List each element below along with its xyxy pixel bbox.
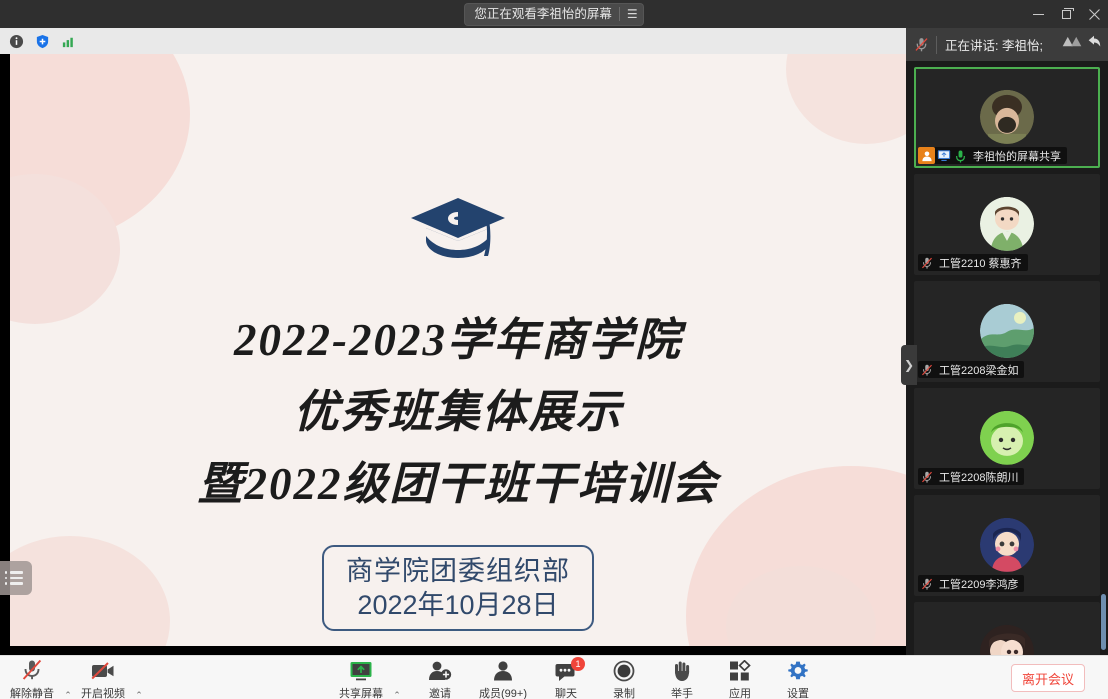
slide-organizer-box: 商学院团委组织部 2022年10月28日 [322, 545, 594, 631]
record-icon [613, 660, 635, 682]
invite-label: 邀请 [429, 685, 451, 699]
slide-title-line-1: 2022-2023学年商学院 [10, 304, 906, 376]
slide-organizer: 商学院团委组织部 [346, 554, 570, 588]
center-controls: 共享屏幕 ⌃ 邀请 [333, 656, 826, 699]
participant-name: 工管2208陈朗川 [935, 469, 1018, 485]
window-controls [1024, 0, 1108, 28]
avatar [980, 624, 1034, 655]
avatar [980, 196, 1034, 250]
slide-title: 2022-2023学年商学院 优秀班集体展示 暨2022级团干班干培训会 [10, 304, 906, 520]
avatar [980, 303, 1034, 357]
graduation-cap-logo [408, 194, 508, 271]
participant-thumbnail[interactable]: 李祖怡的屏幕共享 [914, 67, 1100, 168]
participant-name-bar: 工管2209李鸿彦 [918, 575, 1024, 592]
mic-active-icon [952, 147, 969, 164]
invite-button[interactable]: 邀请 [412, 656, 468, 699]
info-icon[interactable] [8, 33, 24, 49]
raise-hand-icon [672, 660, 692, 682]
apps-icon [729, 660, 751, 682]
shield-icon[interactable] [34, 33, 50, 49]
audio-options-caret[interactable]: ⌃ [61, 690, 75, 699]
participant-name-bar: 工管2208梁金如 [918, 361, 1024, 378]
leave-meeting-button[interactable]: 离开会议 [1011, 664, 1085, 692]
participant-thumbnail[interactable]: 工管2210 蔡惠齐 [914, 174, 1100, 275]
slide-title-line-3: 暨2022级团干班干培训会 [10, 448, 906, 520]
host-icon [918, 147, 935, 164]
chat-button[interactable]: 1 聊天 [538, 656, 594, 699]
divider [619, 7, 620, 21]
share-screen-icon [348, 660, 374, 682]
unmute-button[interactable]: 解除静音 [4, 656, 60, 699]
record-label: 录制 [613, 685, 635, 699]
watching-screen-indicator: 您正在观看李祖怡的屏幕 ☰ [465, 4, 642, 25]
close-button[interactable] [1080, 0, 1108, 28]
active-speaker-bar: 正在讲话: 李祖怡; [906, 28, 1108, 61]
participant-thumbnail[interactable] [914, 602, 1100, 655]
video-options-caret[interactable]: ⌃ [132, 690, 146, 699]
participant-thumbnail[interactable]: 工管2208梁金如 [914, 281, 1100, 382]
participant-name-bar: 工管2208陈朗川 [918, 468, 1024, 485]
signal-icon[interactable] [60, 33, 76, 49]
list-toggle-icon [10, 571, 23, 585]
raise-hand-button[interactable]: 举手 [654, 656, 710, 699]
gallery-view-icon[interactable] [1061, 34, 1083, 55]
avatar [980, 89, 1034, 143]
mic-muted-icon [918, 361, 935, 378]
participant-thumbnail[interactable]: 工管2209李鸿彦 [914, 495, 1100, 596]
collapse-panel-handle[interactable]: ❯ [901, 345, 917, 385]
participant-name-bar: 李祖怡的屏幕共享 [918, 147, 1067, 164]
participant-name: 李祖怡的屏幕共享 [969, 148, 1061, 164]
panel-actions [1061, 34, 1102, 55]
share-screen-label: 共享屏幕 [339, 685, 383, 699]
chat-label: 聊天 [555, 685, 577, 699]
title-bar: 您正在观看李祖怡的屏幕 ☰ [0, 0, 1108, 28]
mic-muted-icon [906, 36, 936, 53]
mic-muted-icon [918, 468, 935, 485]
minimize-button[interactable] [1024, 0, 1052, 28]
members-label: 成员(99+) [479, 685, 527, 699]
invite-icon [428, 660, 452, 682]
start-video-button[interactable]: 开启视频 [75, 656, 131, 699]
record-button[interactable]: 录制 [596, 656, 652, 699]
meeting-info-bar [0, 28, 906, 54]
leave-meeting-label: 离开会议 [1022, 669, 1074, 688]
mic-muted-icon [918, 254, 935, 271]
shared-screen-stage: 2022-2023学年商学院 优秀班集体展示 暨2022级团干班干培训会 商学院… [0, 54, 906, 655]
presentation-slide: 2022-2023学年商学院 优秀班集体展示 暨2022级团干班干培训会 商学院… [10, 54, 906, 646]
members-icon [492, 660, 514, 682]
screen-share-icon [935, 147, 952, 164]
close-icon [1089, 9, 1100, 20]
slide-date: 2022年10月28日 [357, 588, 558, 622]
apps-label: 应用 [729, 685, 751, 699]
view-options-icon[interactable]: ☰ [627, 4, 639, 25]
participant-name-bar: 工管2210 蔡惠齐 [918, 254, 1028, 271]
participant-thumbnail[interactable]: 工管2208陈朗川 [914, 388, 1100, 489]
members-button[interactable]: 成员(99+) [470, 656, 536, 699]
av-controls: 解除静音 ⌃ 开启视频 ⌃ [4, 656, 146, 699]
video-off-icon [90, 660, 116, 682]
avatar [980, 517, 1034, 571]
left-panel-toggle[interactable] [0, 561, 32, 595]
participant-name: 工管2208梁金如 [935, 362, 1018, 378]
participant-name: 工管2210 蔡惠齐 [935, 255, 1022, 271]
start-video-label: 开启视频 [81, 685, 125, 699]
settings-button[interactable]: 设置 [770, 656, 826, 699]
panel-scrollbar[interactable] [1101, 64, 1106, 652]
settings-label: 设置 [787, 685, 809, 699]
unmute-label: 解除静音 [10, 685, 54, 699]
scrollbar-thumb[interactable] [1101, 594, 1106, 650]
participants-panel: 正在讲话: 李祖怡; [906, 28, 1108, 655]
watching-screen-label: 您正在观看李祖怡的屏幕 [474, 4, 612, 25]
apps-button[interactable]: 应用 [712, 656, 768, 699]
share-screen-button[interactable]: 共享屏幕 [333, 656, 389, 699]
meeting-toolbar: 解除静音 ⌃ 开启视频 ⌃ [0, 655, 1108, 699]
back-arrow-icon[interactable] [1086, 34, 1102, 55]
mic-muted-icon [918, 575, 935, 592]
chat-unread-badge: 1 [571, 657, 585, 671]
active-speaker-label: 正在讲话: 李祖怡; [945, 35, 1061, 54]
avatar [980, 410, 1034, 464]
mic-muted-icon [20, 660, 44, 682]
slide-title-line-2: 优秀班集体展示 [10, 376, 906, 448]
participant-name: 工管2209李鸿彦 [935, 576, 1018, 592]
raise-hand-label: 举手 [671, 685, 693, 699]
share-options-caret[interactable]: ⌃ [390, 690, 404, 699]
maximize-button[interactable] [1052, 0, 1080, 28]
participant-thumbnails[interactable]: 李祖怡的屏幕共享 [906, 61, 1108, 655]
gear-icon [787, 660, 809, 682]
meeting-window: 您正在观看李祖怡的屏幕 ☰ [0, 0, 1108, 699]
